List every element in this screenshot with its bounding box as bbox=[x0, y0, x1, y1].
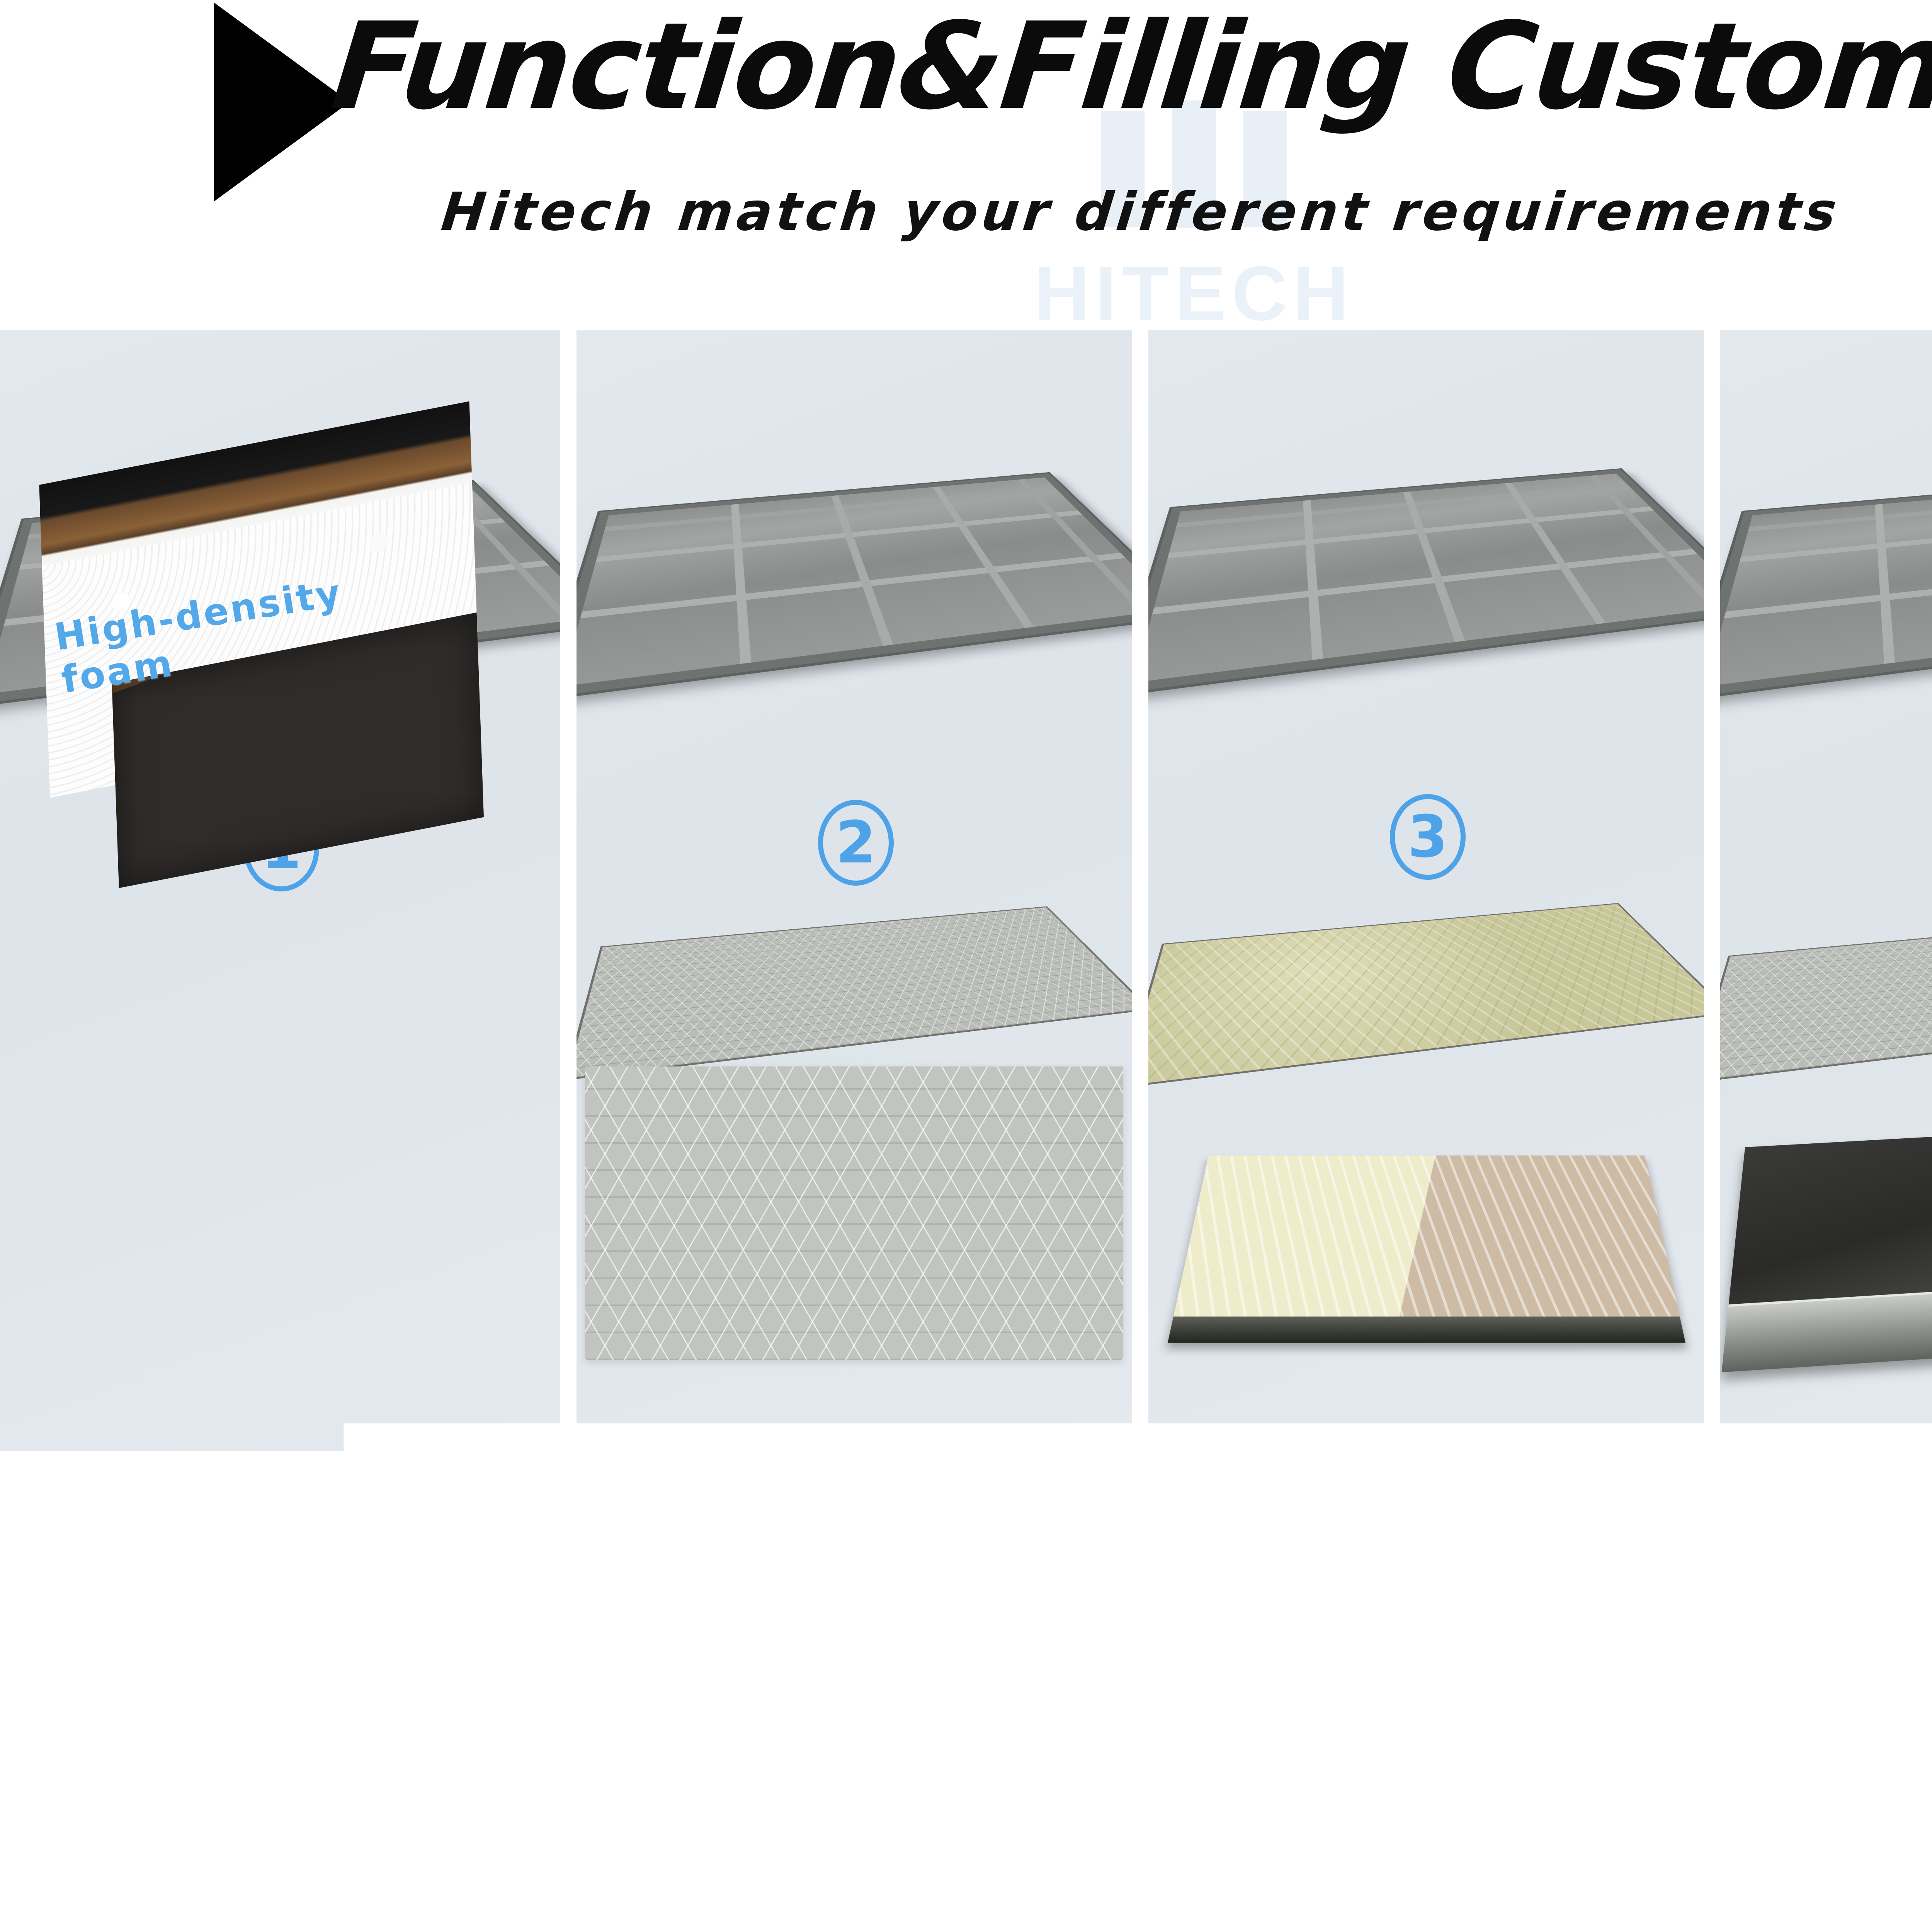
caption-bulletproof: Bullet-proof bbox=[1814, 1466, 1932, 1535]
features-text: Armored , Security , Anti-theft , Hurric… bbox=[52, 1756, 1932, 1834]
page-subtitle: Hitech match your different requirements bbox=[0, 182, 1932, 243]
functions-band: Standard type still with the functions: bbox=[0, 1592, 1932, 1719]
cold-thermometer-panel: ❄ bbox=[1855, 1911, 1932, 1932]
hot-thermometer-panel bbox=[1625, 1911, 1855, 1932]
comparison-column-bulletproof[interactable]: 4 bbox=[1720, 330, 1932, 1451]
man-kicking-door-photo[interactable] bbox=[176, 1911, 566, 1932]
comparison-grid: 1 High-density foam 2 3 bbox=[0, 330, 1932, 1592]
caption-standard: Standard bbox=[143, 1466, 456, 1535]
armor-steel-plate-panel-image bbox=[1721, 1121, 1932, 1372]
watermark-text: HITECH bbox=[1020, 255, 1368, 332]
comparison-column-fireproof[interactable]: 3 bbox=[1148, 330, 1704, 1451]
caption-upgrade: Upgrade bbox=[755, 1466, 1046, 1535]
aluminum-honeycomb-panel-image bbox=[1720, 915, 1932, 1081]
glass-wool-fireproof-core-image bbox=[1168, 1155, 1685, 1343]
photo-row: ❄ bbox=[0, 1911, 1932, 1932]
aluminum-honeycomb-panel-image bbox=[577, 907, 1132, 1078]
features-row: Armored , Security , Anti-theft , Hurric… bbox=[0, 1719, 1932, 1870]
crowbar-prying-door-photo[interactable] bbox=[562, 1911, 1024, 1932]
caption-fireproof: Fire-proof bbox=[1304, 1466, 1643, 1535]
rockwool-honeycomb-panel-image bbox=[1148, 904, 1704, 1086]
step-badge-3: 3 bbox=[1390, 794, 1466, 880]
aluminum-honeycomb-closeup-image bbox=[585, 1066, 1123, 1360]
page-header: HITECH Function&Filling Custom Hitech ma… bbox=[0, 0, 1932, 330]
hurricane-satellite-photo[interactable] bbox=[1070, 1911, 1532, 1932]
functions-band-text: Standard type still with the functions: bbox=[548, 1618, 1734, 1694]
comparison-column-upgrade[interactable]: 2 bbox=[577, 330, 1132, 1451]
caption-row: Standard Upgrade Fire-proof Bullet-proof bbox=[0, 1459, 1932, 1592]
hot-cold-thermometers-photo[interactable]: ❄ bbox=[1625, 1911, 1932, 1932]
step-badge-2: 2 bbox=[818, 800, 894, 886]
page-title: Function&Filling Custom bbox=[0, 4, 1932, 130]
comparison-column-standard[interactable]: 1 High-density foam bbox=[0, 330, 560, 1451]
